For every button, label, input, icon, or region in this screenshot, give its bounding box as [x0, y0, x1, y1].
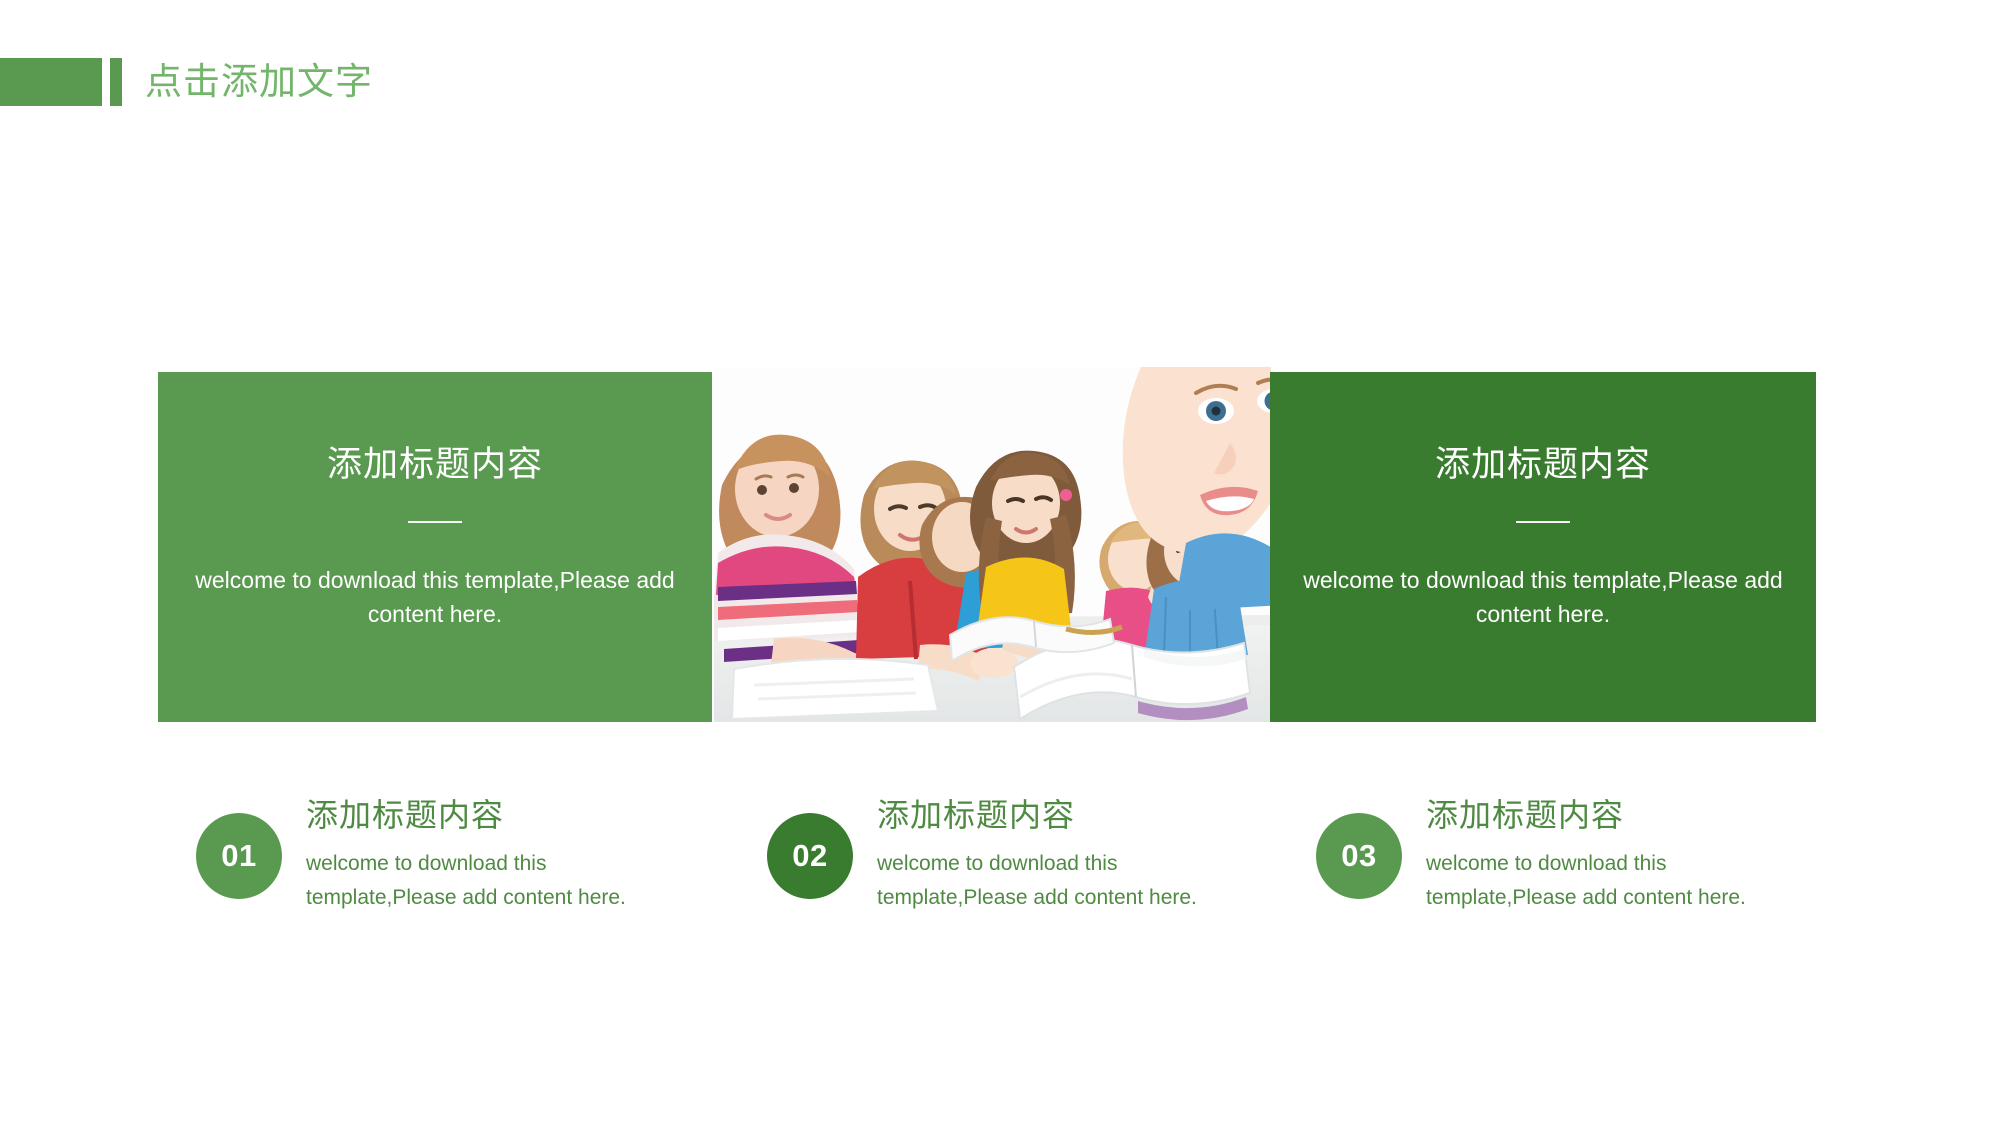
- photo-children-reading: [714, 367, 1271, 722]
- list-item[interactable]: 01 添加标题内容 welcome to download this templ…: [196, 795, 716, 1015]
- left-feature-panel[interactable]: 添加标题内容 welcome to download this template…: [158, 372, 712, 722]
- item-body: welcome to download this template,Please…: [306, 847, 636, 914]
- item-title: 添加标题内容: [877, 795, 1207, 835]
- left-panel-title: 添加标题内容: [327, 444, 543, 486]
- item-title: 添加标题内容: [306, 795, 636, 835]
- content-band: 添加标题内容 welcome to download this template…: [158, 372, 1816, 722]
- header-accent-block: [0, 58, 102, 106]
- right-panel-title: 添加标题内容: [1435, 444, 1651, 486]
- item-number-badge: 02: [767, 813, 853, 899]
- numbered-items-row: 01 添加标题内容 welcome to download this templ…: [0, 795, 2000, 1025]
- item-text-block: 添加标题内容 welcome to download this template…: [306, 795, 636, 914]
- right-feature-panel[interactable]: 添加标题内容 welcome to download this template…: [1270, 372, 1816, 722]
- list-item[interactable]: 02 添加标题内容 welcome to download this templ…: [767, 795, 1287, 1015]
- right-panel-body: welcome to download this template,Please…: [1283, 563, 1803, 631]
- left-panel-divider: [408, 521, 462, 523]
- item-number-badge: 01: [196, 813, 282, 899]
- page-title: 点击添加文字: [145, 52, 373, 112]
- item-body: welcome to download this template,Please…: [1426, 847, 1756, 914]
- photo-illustration: [714, 367, 1271, 722]
- item-text-block: 添加标题内容 welcome to download this template…: [877, 795, 1207, 914]
- item-text-block: 添加标题内容 welcome to download this template…: [1426, 795, 1756, 914]
- list-item[interactable]: 03 添加标题内容 welcome to download this templ…: [1316, 795, 1836, 1015]
- right-panel-divider: [1516, 521, 1570, 523]
- header-accent-bar: [110, 58, 122, 106]
- left-panel-body: welcome to download this template,Please…: [175, 563, 695, 631]
- item-number-badge: 03: [1316, 813, 1402, 899]
- item-title: 添加标题内容: [1426, 795, 1756, 835]
- item-body: welcome to download this template,Please…: [877, 847, 1207, 914]
